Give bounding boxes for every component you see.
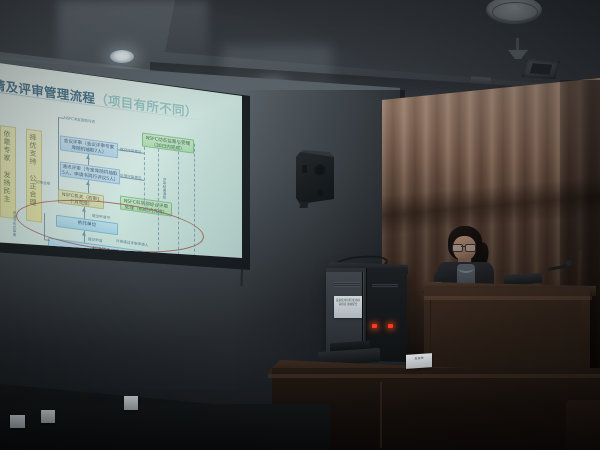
wall-speaker-icon [296, 152, 334, 204]
desk-panel-seam [380, 382, 382, 448]
detector-stem [516, 38, 519, 52]
speaker-tweeter [302, 165, 307, 173]
wall-socket-3[interactable] [124, 396, 138, 410]
lectern-edge-highlight [424, 296, 592, 300]
conference-room-photo: 申请及评审管理流程（项目有所不同） 依靠专家 发扬民主 择优支持 公正合理 NS… [0, 0, 600, 450]
wall-socket-1[interactable] [10, 415, 25, 428]
ceiling-fixture-small [471, 76, 491, 84]
chair [566, 400, 600, 450]
ceiling-vent-inner [530, 63, 552, 74]
wall-socket-2[interactable] [41, 410, 55, 423]
presenter-necklace [458, 264, 474, 273]
glasses-bridge [461, 246, 465, 247]
desk-edge-highlight [268, 374, 600, 378]
downlight-icon-1 [110, 50, 134, 63]
rack-status-led-2 [388, 324, 393, 328]
rack-vent-upper [334, 282, 360, 287]
speaker-port [316, 189, 325, 198]
rack-notice-label: 设备使用说明 使用前请阅读 谢谢配合 [334, 296, 362, 318]
smoke-detector-ring [492, 2, 538, 22]
speaker-bracket [299, 202, 308, 208]
podium-laptop [504, 273, 542, 285]
rack-vent-right [372, 284, 398, 288]
microphone-head-icon [566, 260, 572, 266]
speaker-woofer [314, 164, 326, 176]
rack-status-led-1 [372, 324, 377, 328]
glasses-icon [452, 244, 476, 250]
